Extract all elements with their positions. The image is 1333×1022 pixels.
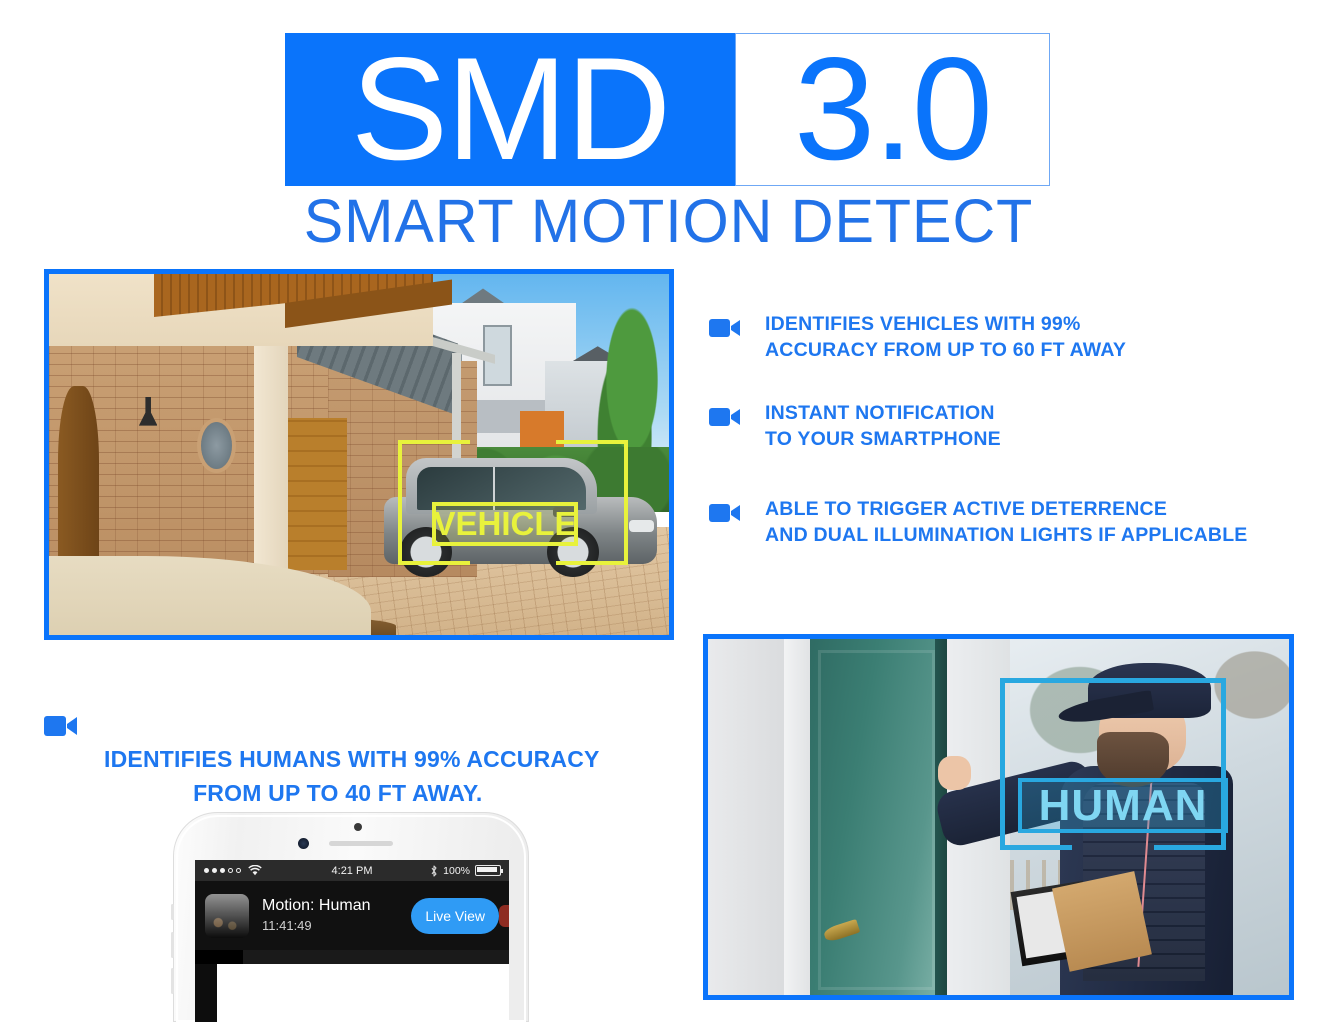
notification-thumbnail <box>205 894 249 938</box>
feature-bullet-notification: INSTANT NOTIFICATION TO YOUR SMARTPHONE <box>709 401 1269 452</box>
garage-door <box>278 418 346 570</box>
notification-timestamp: 11:41:49 <box>262 918 411 935</box>
phone-status-bar: 4:21 PM 100% <box>195 860 509 881</box>
logo-lockup: SMD 3.0 <box>285 33 1050 186</box>
feature-bullet-text: INSTANT NOTIFICATION TO YOUR SMARTPHONE <box>765 401 1001 452</box>
phone-proximity-sensor <box>354 823 362 831</box>
notification-text-group: Motion: Human 11:41:49 <box>262 896 411 935</box>
notification-swipe-indicator <box>499 905 509 927</box>
logo-version-text: 3.0 <box>794 40 991 179</box>
driveway-scene <box>49 274 669 635</box>
feature-bullet-vehicles: IDENTIFIES VEHICLES WITH 99% ACCURACY FR… <box>709 312 1269 363</box>
battery-percent-label: 100% <box>443 865 470 877</box>
feature-bullet-text: IDENTIFIES VEHICLES WITH 99% ACCURACY FR… <box>765 312 1126 363</box>
status-bar-right-group: 100% <box>430 865 501 877</box>
screen-divider-inner <box>243 950 509 964</box>
video-camera-icon <box>44 714 78 738</box>
human-detection-label: HUMAN <box>1018 778 1228 833</box>
cardboard-parcel <box>1052 871 1152 972</box>
phone-volume-down-button[interactable] <box>171 968 174 994</box>
phone-mute-switch[interactable] <box>171 904 174 920</box>
vehicle-detection-label: VEHICLE <box>432 502 578 546</box>
app-content-area <box>217 964 509 1022</box>
feature-bullet-deterrence: ABLE TO TRIGGER ACTIVE DETERRENCE AND DU… <box>709 497 1269 548</box>
feature-bullet-list: IDENTIFIES VEHICLES WITH 99% ACCURACY FR… <box>709 312 1269 586</box>
feature-bullet-text: ABLE TO TRIGGER ACTIVE DETERRENCE AND DU… <box>765 497 1248 548</box>
video-camera-icon <box>709 502 741 524</box>
door-jamb <box>784 639 813 995</box>
left-wall <box>708 639 789 995</box>
bluetooth-icon <box>430 865 438 877</box>
video-camera-icon <box>709 317 741 339</box>
front-door <box>58 386 98 574</box>
logo-subtitle: SMART MOTION DETECT <box>297 190 1041 252</box>
logo-smd-text: SMD <box>351 40 669 179</box>
infographic-canvas: SMD 3.0 SMART MOTION DETECT <box>0 0 1333 1000</box>
video-camera-icon <box>709 406 741 428</box>
carport-column <box>254 321 288 581</box>
person-knocking-hand <box>938 756 971 790</box>
live-view-button[interactable]: Live View <box>411 898 499 934</box>
phone-front-camera <box>298 838 309 849</box>
downpipe <box>452 353 461 461</box>
human-feature-line-2: FROM UP TO 40 FT AWAY. <box>104 777 600 810</box>
phone-earpiece-speaker <box>329 841 393 846</box>
logo-smd-block: SMD <box>285 33 735 186</box>
human-feature-line-1: IDENTIFIES HUMANS WITH 99% ACCURACY <box>104 746 600 772</box>
smartphone-mockup: 4:21 PM 100% Motion: Human 11:41:49 Live… <box>173 812 529 1012</box>
vehicle-detection-photo <box>44 269 674 640</box>
phone-volume-up-button[interactable] <box>171 932 174 958</box>
phone-screen: 4:21 PM 100% Motion: Human 11:41:49 Live… <box>195 860 509 1022</box>
suv-headlight <box>629 520 654 532</box>
notification-title: Motion: Human <box>262 896 411 916</box>
oval-window <box>201 422 232 469</box>
logo-version-block: 3.0 <box>735 33 1050 186</box>
push-notification-banner[interactable]: Motion: Human 11:41:49 Live View <box>195 881 509 950</box>
battery-icon <box>475 865 501 876</box>
